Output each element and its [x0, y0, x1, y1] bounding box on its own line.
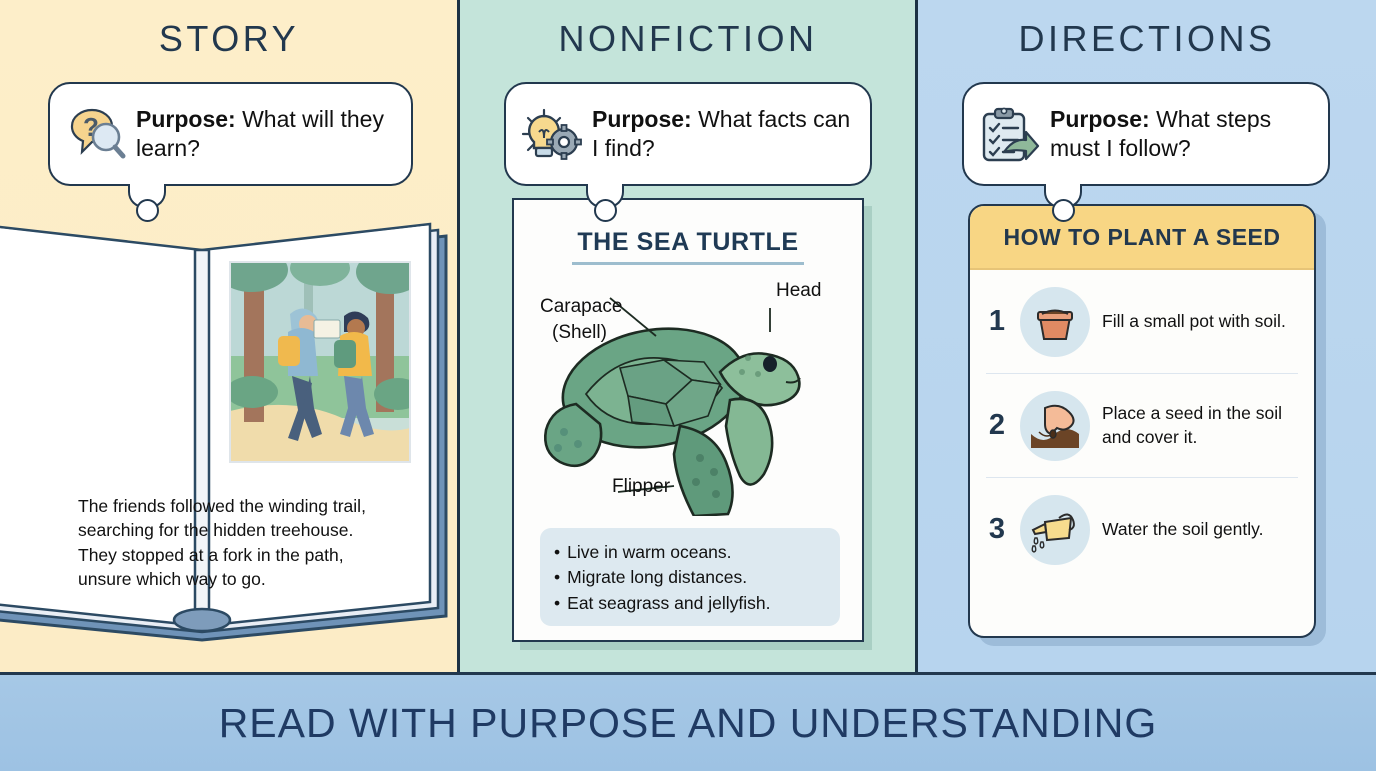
hand-seed-icon: [1020, 391, 1090, 461]
step-row: 1 Fill a small pot with soil.: [986, 270, 1298, 374]
column-title-story: STORY: [0, 18, 458, 60]
purpose-bubble-story: ? Purpose: What will they learn?: [48, 82, 413, 186]
step-row: 2 Place a seed in the soil and cover it.: [986, 374, 1298, 478]
label-flipper: Flipper: [612, 476, 670, 498]
purpose-bubble-directions: Purpose: What steps must I follow?: [962, 82, 1330, 186]
story-body-text: The friends followed the winding trail, …: [78, 494, 378, 591]
label-head: Head: [776, 280, 821, 302]
step-number: 3: [986, 513, 1008, 546]
step-number: 1: [986, 305, 1008, 338]
purpose-text-nonfiction: Purpose: What facts can I find?: [592, 105, 852, 163]
bubble-connector-directions: [1052, 199, 1075, 222]
purpose-text-story: Purpose: What will they learn?: [136, 105, 393, 163]
purpose-text-directions: Purpose: What steps must I follow?: [1050, 105, 1310, 163]
purpose-label-nonfiction: Purpose:: [592, 106, 692, 132]
bottom-banner: READ WITH PURPOSE AND UNDERSTANDING: [0, 672, 1376, 771]
flower-pot-icon: [1020, 287, 1090, 357]
nonfiction-card-title: THE SEA TURTLE: [512, 228, 864, 257]
purpose-bubble-nonfiction: Purpose: What facts can I find?: [504, 82, 872, 186]
clipboard-arrow-icon: [978, 106, 1040, 162]
directions-card-header: HOW TO PLANT A SEED: [970, 206, 1314, 270]
fact-item: Migrate long distances.: [554, 565, 826, 590]
column-title-nonfiction: NONFICTION: [460, 18, 916, 60]
column-title-directions: DIRECTIONS: [918, 18, 1376, 60]
purpose-label-directions: Purpose:: [1050, 106, 1150, 132]
directions-card: HOW TO PLANT A SEED 1 Fill a small pot w…: [968, 204, 1316, 638]
label-carapace: Carapace: [540, 296, 622, 318]
title-underline: [572, 262, 804, 265]
column-story: STORY: [0, 0, 458, 672]
banner-text: READ WITH PURPOSE AND UNDERSTANDING: [219, 700, 1158, 747]
bubble-connector-nonfiction: [594, 199, 617, 222]
turtle-facts-box: Live in warm oceans. Migrate long distan…: [540, 528, 840, 626]
step-row: 3 Water the soil gently.: [986, 478, 1298, 581]
column-divider-2: [915, 0, 918, 672]
question-magnifier-icon: ?: [64, 106, 126, 162]
steps-list: 1 Fill a small pot with soil. 2: [970, 270, 1314, 581]
infographic-canvas: STORY: [0, 0, 1376, 768]
bubble-connector-story: [136, 199, 159, 222]
label-shell: (Shell): [552, 322, 607, 344]
lightbulb-gear-icon: [520, 106, 582, 162]
fact-item: Live in warm oceans.: [554, 540, 826, 565]
purpose-label-story: Purpose:: [136, 106, 236, 132]
turtle-facts-list: Live in warm oceans. Migrate long distan…: [554, 540, 826, 616]
column-divider-1: [457, 0, 460, 672]
watering-can-icon: [1020, 495, 1090, 565]
fact-item: Eat seagrass and jellyfish.: [554, 591, 826, 616]
step-number: 2: [986, 409, 1008, 442]
step-text: Fill a small pot with soil.: [1102, 310, 1286, 333]
step-text: Water the soil gently.: [1102, 518, 1263, 541]
step-text: Place a seed in the soil and cover it.: [1102, 402, 1298, 449]
directions-card-title: HOW TO PLANT A SEED: [1004, 224, 1281, 251]
